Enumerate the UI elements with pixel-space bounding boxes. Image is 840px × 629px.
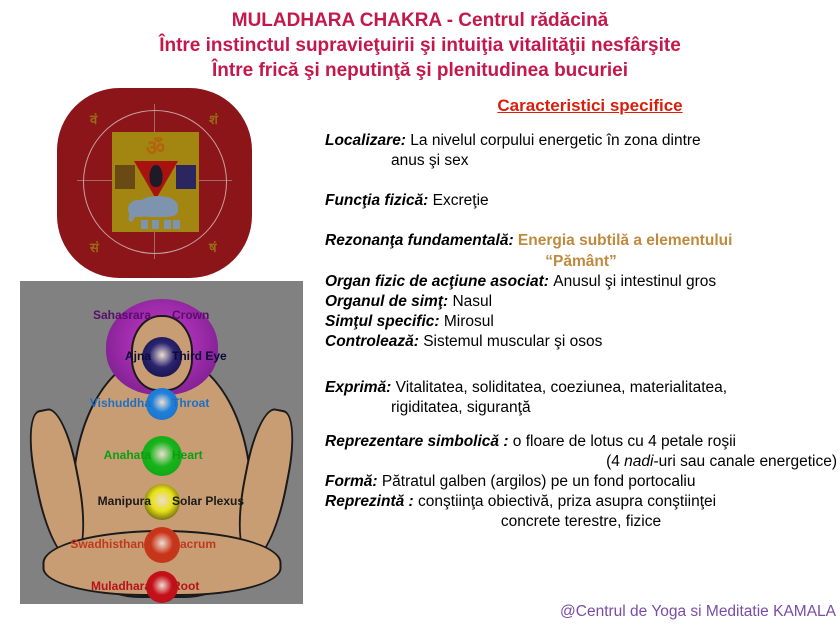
characteristic-value: Sistemul muscular şi osos	[423, 333, 602, 350]
characteristic-value-continued: rigiditatea, siguranţă	[325, 398, 837, 418]
chakra-label-sahasrara-sanskrit: Sahasrara	[93, 308, 151, 322]
characteristic-value-continued: anus şi sex	[325, 151, 837, 171]
elephant-leg	[141, 220, 148, 229]
title-line-1: MULADHARA CHAKRA - Centrul rădăcină	[0, 8, 840, 33]
characteristic-value: Excreţie	[433, 192, 489, 209]
characteristic-row: Exprimă: Vitalitatea, soliditatea, coezi…	[325, 378, 837, 418]
characteristics-heading: Caracteristici specifice	[325, 96, 837, 116]
characteristic-value-continued: concrete terestre, fizice	[325, 512, 837, 532]
characteristic-label: Exprimă:	[325, 379, 396, 396]
chakra-label-solar-plexus-english: Solar Plexus	[172, 494, 244, 508]
characteristic-label: Reprezintă :	[325, 493, 418, 510]
title-line-2: Între instinctul supravieţuirii şi intui…	[0, 33, 840, 58]
petal-sanskrit-glyph-4: षं	[209, 238, 217, 256]
characteristic-row: Localizare: La nivelul corpului energeti…	[325, 131, 837, 171]
petal-sanskrit-glyph-1: वं	[90, 110, 97, 128]
chakra-label-throat-english: Throat	[172, 396, 209, 410]
row-spacer	[325, 352, 837, 378]
italic-term: nadi	[624, 453, 653, 470]
row-spacer	[325, 211, 837, 231]
slide-title: MULADHARA CHAKRA - Centrul rădăcină Într…	[0, 8, 840, 83]
characteristic-label: Reprezentare simbolică :	[325, 433, 513, 450]
characteristic-row: Reprezintă : conştiinţa obiectivă, priza…	[325, 492, 837, 532]
characteristic-row: Organul de simţ: Nasul	[325, 292, 837, 312]
characteristic-value: o floare de lotus cu 4 petale roşii	[513, 433, 736, 450]
chakra-label-muladhara-sanskrit: Muladhara	[91, 579, 151, 593]
chakra-label-manipura-sanskrit: Manipura	[98, 494, 151, 508]
characteristic-value: La nivelul corpului energetic în zona di…	[410, 132, 700, 149]
characteristic-label: Simţul specific:	[325, 313, 444, 330]
chakra-body-diagram: Sahasrara Crown Ajna Third Eye Vishuddha…	[20, 281, 303, 604]
footer-credit: @Centrul de Yoga si Meditatie KAMALA	[0, 603, 840, 621]
characteristic-value: Pătratul galben (argilos) pe un fond por…	[382, 473, 696, 490]
characteristic-label: Formă:	[325, 473, 382, 490]
characteristics-panel: Caracteristici specifice Localizare: La …	[325, 96, 837, 532]
chakra-label-vishuddha-sanskrit: Vishuddha	[90, 396, 151, 410]
chakra-label-swadhisthana-sanskrit: Swadhisthana	[70, 537, 151, 551]
characteristic-row: Controlează: Sistemul muscular şi osos	[325, 332, 837, 352]
characteristic-row: Funcţia fizică: Excreţie	[325, 191, 837, 211]
row-spacer	[325, 419, 837, 432]
chakra-label-root-english: Root	[172, 579, 199, 593]
characteristic-row: Rezonanţa fundamentală: Energia subtilă …	[325, 231, 837, 271]
characteristic-value: Vitalitatea, soliditatea, coeziunea, mat…	[396, 379, 727, 396]
deity-figure-right	[176, 165, 196, 189]
characteristic-row: Simţul specific: Mirosul	[325, 312, 837, 332]
characteristics-rows: Localizare: La nivelul corpului energeti…	[325, 131, 837, 532]
characteristic-row: Formă: Pătratul galben (argilos) pe un f…	[325, 472, 837, 492]
chakra-label-anahata-sanskrit: Anahata	[104, 448, 151, 462]
characteristic-row: Reprezentare simbolică : o floare de lot…	[325, 432, 837, 472]
characteristic-label: Rezonanţa fundamentală:	[325, 232, 518, 249]
muladhara-mandala-image: वं शं सं षं ॐ	[57, 88, 252, 278]
characteristic-label: Controlează:	[325, 333, 423, 350]
characteristic-row: Organ fizic de acţiune asociat: Anusul ş…	[325, 272, 837, 292]
characteristic-value: Nasul	[452, 293, 492, 310]
characteristic-value: conştiinţa obiectivă, priza asupra conşt…	[418, 493, 716, 510]
characteristic-label: Organ fizic de acţiune asociat:	[325, 273, 553, 290]
characteristic-value: Mirosul	[444, 313, 494, 330]
characteristic-value-continued: “Pământ”	[325, 252, 837, 272]
characteristic-value-continued: (4 nadi-uri sau canale energetice)	[325, 452, 837, 472]
characteristic-label: Localizare:	[325, 132, 410, 149]
characteristic-value: Anusul şi intestinul gros	[553, 273, 716, 290]
chakra-label-ajna-sanskrit: Ajna	[125, 349, 151, 363]
chakra-label-sacrum-english: Sacrum	[172, 537, 216, 551]
deity-figure-center	[149, 165, 162, 187]
elephant-leg	[173, 220, 180, 229]
elephant-leg	[152, 220, 159, 229]
characteristic-label: Organul de simţ:	[325, 293, 452, 310]
bija-mantra-icon: ॐ	[146, 138, 165, 159]
chakra-label-third-eye-english: Third Eye	[172, 349, 227, 363]
elephant-leg	[164, 220, 171, 229]
chakra-label-heart-english: Heart	[172, 448, 203, 462]
deity-figure-left	[115, 165, 135, 189]
yellow-square-earth-element: ॐ	[112, 132, 199, 232]
elephant-icon	[128, 194, 184, 224]
chakra-label-crown-english: Crown	[172, 308, 209, 322]
title-line-3: Între frică şi neputinţă şi plenitudinea…	[0, 58, 840, 83]
characteristic-label: Funcţia fizică:	[325, 192, 433, 209]
characteristic-value: Energia subtilă a elementului	[518, 232, 732, 249]
petal-sanskrit-glyph-3: सं	[90, 238, 99, 256]
row-spacer	[325, 171, 837, 191]
petal-sanskrit-glyph-2: शं	[209, 110, 218, 128]
